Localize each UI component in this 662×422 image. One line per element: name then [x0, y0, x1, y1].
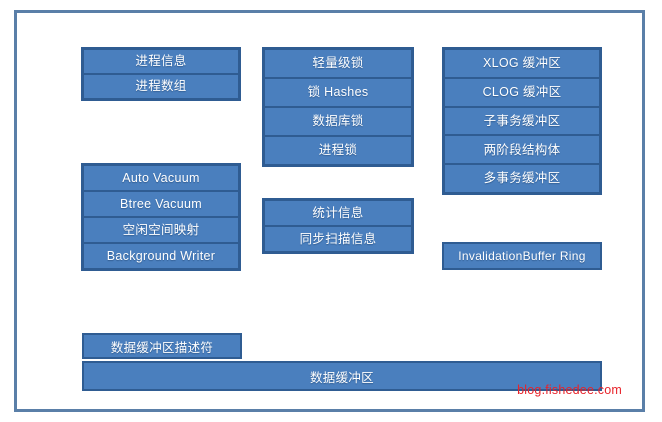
box-process-info[interactable]: 进程信息 — [84, 50, 238, 73]
box-background-writer[interactable]: Background Writer — [84, 244, 238, 268]
watermark-text: blog.fishedee.com — [517, 383, 622, 397]
box-process-array[interactable]: 进程数组 — [84, 75, 238, 98]
box-xlog-buffer[interactable]: XLOG 缓冲区 — [445, 50, 599, 77]
box-statistics-info[interactable]: 统计信息 — [265, 201, 411, 225]
box-btree-vacuum[interactable]: Btree Vacuum — [84, 192, 238, 216]
box-process-lock[interactable]: 进程锁 — [265, 137, 411, 164]
process-group: 进程信息 进程数组 — [81, 47, 241, 101]
box-free-space-map[interactable]: 空闲空间映射 — [84, 218, 238, 242]
box-database-lock[interactable]: 数据库锁 — [265, 108, 411, 135]
box-auto-vacuum[interactable]: Auto Vacuum — [84, 166, 238, 190]
buffer-group: XLOG 缓冲区 CLOG 缓冲区 子事务缓冲区 两阶段结构体 多事务缓冲区 — [442, 47, 602, 195]
box-lock-hashes[interactable]: 锁 Hashes — [265, 79, 411, 106]
lock-group: 轻量级锁 锁 Hashes 数据库锁 进程锁 — [262, 47, 414, 167]
box-clog-buffer[interactable]: CLOG 缓冲区 — [445, 79, 599, 106]
maintenance-group: Auto Vacuum Btree Vacuum 空闲空间映射 Backgrou… — [81, 163, 241, 271]
box-lightweight-lock[interactable]: 轻量级锁 — [265, 50, 411, 77]
box-multitransaction-buffer[interactable]: 多事务缓冲区 — [445, 165, 599, 192]
box-sync-scan-info[interactable]: 同步扫描信息 — [265, 227, 411, 251]
diagram-frame: 进程信息 进程数组 Auto Vacuum Btree Vacuum 空闲空间映… — [14, 10, 645, 412]
box-subtransaction-buffer[interactable]: 子事务缓冲区 — [445, 108, 599, 135]
box-invalidation-buffer-ring[interactable]: InvalidationBuffer Ring — [442, 242, 602, 270]
diagram-canvas: 进程信息 进程数组 Auto Vacuum Btree Vacuum 空闲空间映… — [0, 0, 662, 422]
box-buffer-descriptor[interactable]: 数据缓冲区描述符 — [82, 333, 242, 359]
box-two-phase-struct[interactable]: 两阶段结构体 — [445, 136, 599, 163]
stats-group: 统计信息 同步扫描信息 — [262, 198, 414, 254]
